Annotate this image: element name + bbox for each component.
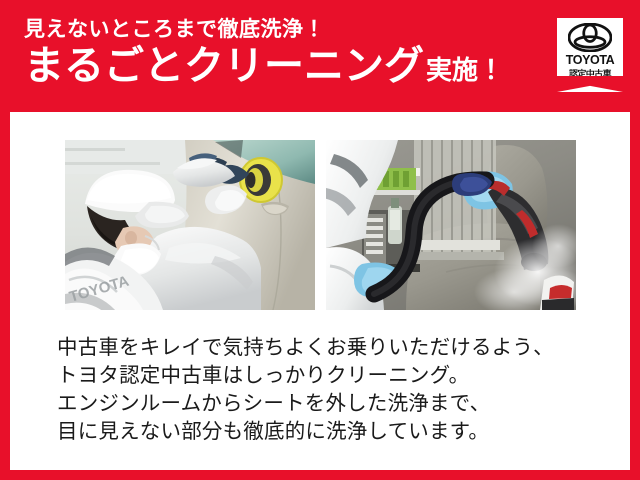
photo-seat-steam-cleaning-image (326, 140, 576, 310)
header-kicker: 見えないところまで徹底洗浄！ (24, 18, 524, 41)
content-panel: TOYOTA (10, 112, 630, 470)
photo-row: TOYOTA (65, 140, 576, 310)
toyota-certified-logo: TOYOTA 認定中古車 (557, 18, 623, 92)
logo-inner: TOYOTA 認定中古車 (557, 18, 623, 92)
body-line-4: 目に見えない部分も徹底的に洗浄しています。 (57, 418, 597, 446)
photo-exterior-polishing: TOYOTA (65, 140, 315, 310)
logo-wordmark: TOYOTA (557, 53, 623, 67)
photo-exterior-polishing-image: TOYOTA (65, 140, 315, 310)
header-headline-row: まるごとクリーニング 実施！ (24, 45, 524, 87)
body-line-2: トヨタ認定中古車はしっかりクリーニング。 (57, 362, 597, 390)
body-line-1: 中古車をキレイで気持ちよくお乗りいただけるよう、 (57, 334, 597, 362)
header-text-block: 見えないところまで徹底洗浄！ まるごとクリーニング 実施！ (24, 18, 524, 87)
toyota-emblem-icon (568, 23, 612, 52)
photo-seat-steam-cleaning (326, 140, 576, 310)
poster-header: 見えないところまで徹底洗浄！ まるごとクリーニング 実施！ TOYOTA 認定中… (0, 0, 640, 112)
header-headline-main: まるごとクリーニング (24, 45, 424, 87)
body-copy: 中古車をキレイで気持ちよくお乗りいただけるよう、 トヨタ認定中古車はしっかりクリ… (57, 334, 597, 446)
logo-chevron-banner (557, 76, 623, 92)
promo-poster: 見えないところまで徹底洗浄！ まるごとクリーニング 実施！ TOYOTA 認定中… (0, 0, 640, 480)
body-line-3: エンジンルームからシートを外した洗浄まで、 (57, 390, 597, 418)
header-headline-sub: 実施！ (426, 57, 504, 84)
